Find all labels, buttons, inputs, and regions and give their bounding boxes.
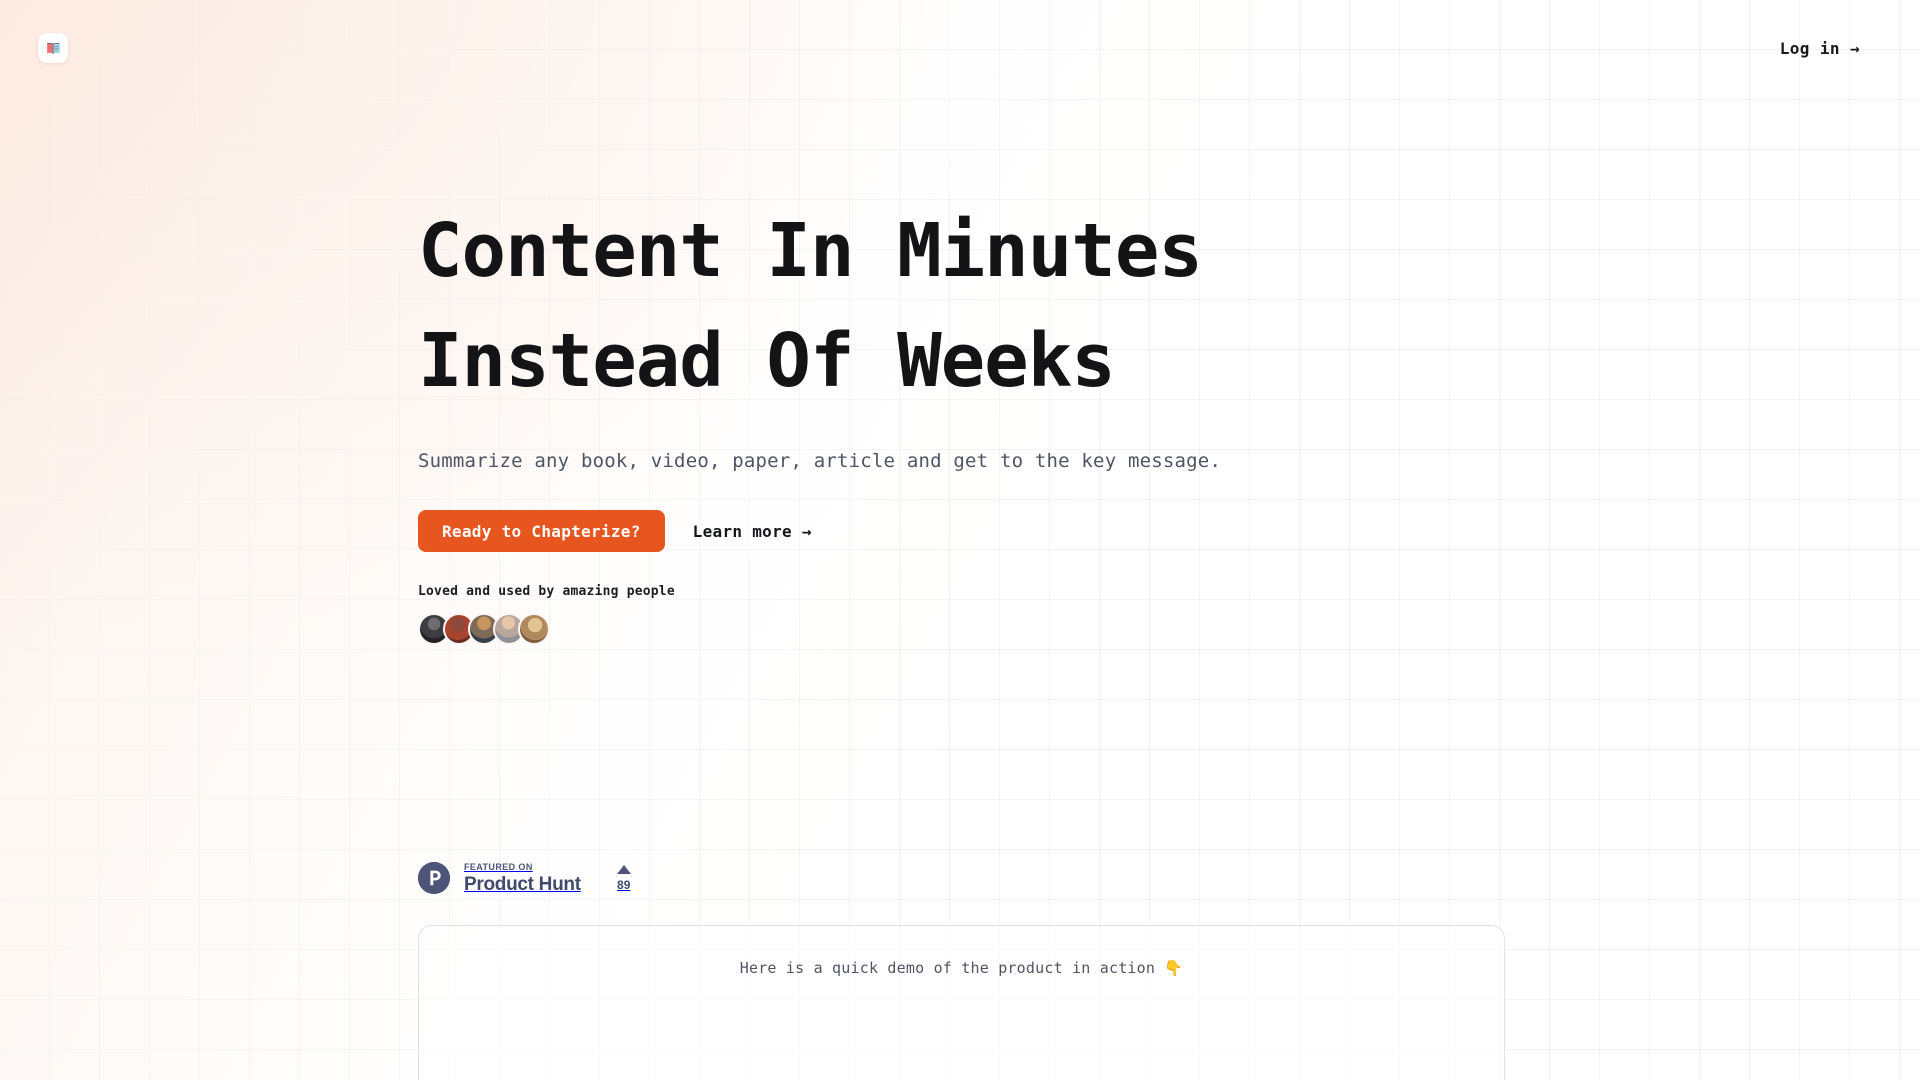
- triangle-up-icon: [617, 865, 631, 874]
- social-proof-label: Loved and used by amazing people: [418, 584, 675, 599]
- ready-to-chapterize-button[interactable]: Ready to Chapterize?: [418, 510, 665, 552]
- demo-caption: Here is a quick demo of the product in a…: [419, 959, 1504, 977]
- site-header: Log in →: [0, 0, 1920, 96]
- product-hunt-badge[interactable]: FEATURED ON Product Hunt 89: [418, 862, 631, 894]
- product-hunt-text: FEATURED ON Product Hunt: [464, 863, 581, 894]
- demo-caption-text: Here is a quick demo of the product in a…: [740, 959, 1155, 977]
- learn-more-link[interactable]: Learn more →: [693, 522, 812, 541]
- open-book-icon: [45, 40, 62, 57]
- demo-panel[interactable]: Here is a quick demo of the product in a…: [418, 925, 1505, 1080]
- page-root: Log in → Content In Minutes Instead Of W…: [0, 0, 1920, 1080]
- product-hunt-votes[interactable]: 89: [617, 865, 631, 892]
- product-hunt-logo-icon: [418, 862, 450, 894]
- hero-subtitle: Summarize any book, video, paper, articl…: [418, 450, 1518, 472]
- hero-actions: Ready to Chapterize? Learn more →: [418, 510, 1518, 552]
- avatar-stack: [418, 613, 675, 645]
- page-title: Content In Minutes Instead Of Weeks: [418, 196, 1518, 416]
- point-down-icon: 👇: [1164, 959, 1183, 977]
- login-link[interactable]: Log in →: [1780, 39, 1860, 58]
- product-hunt-vote-count: 89: [617, 878, 630, 892]
- product-hunt-featured-label: FEATURED ON: [464, 863, 581, 872]
- social-proof-section: Loved and used by amazing people: [418, 584, 675, 645]
- product-hunt-name: Product Hunt: [464, 875, 581, 894]
- site-logo[interactable]: [38, 33, 68, 63]
- avatar: [518, 613, 550, 645]
- hero-section: Content In Minutes Instead Of Weeks Summ…: [418, 196, 1518, 552]
